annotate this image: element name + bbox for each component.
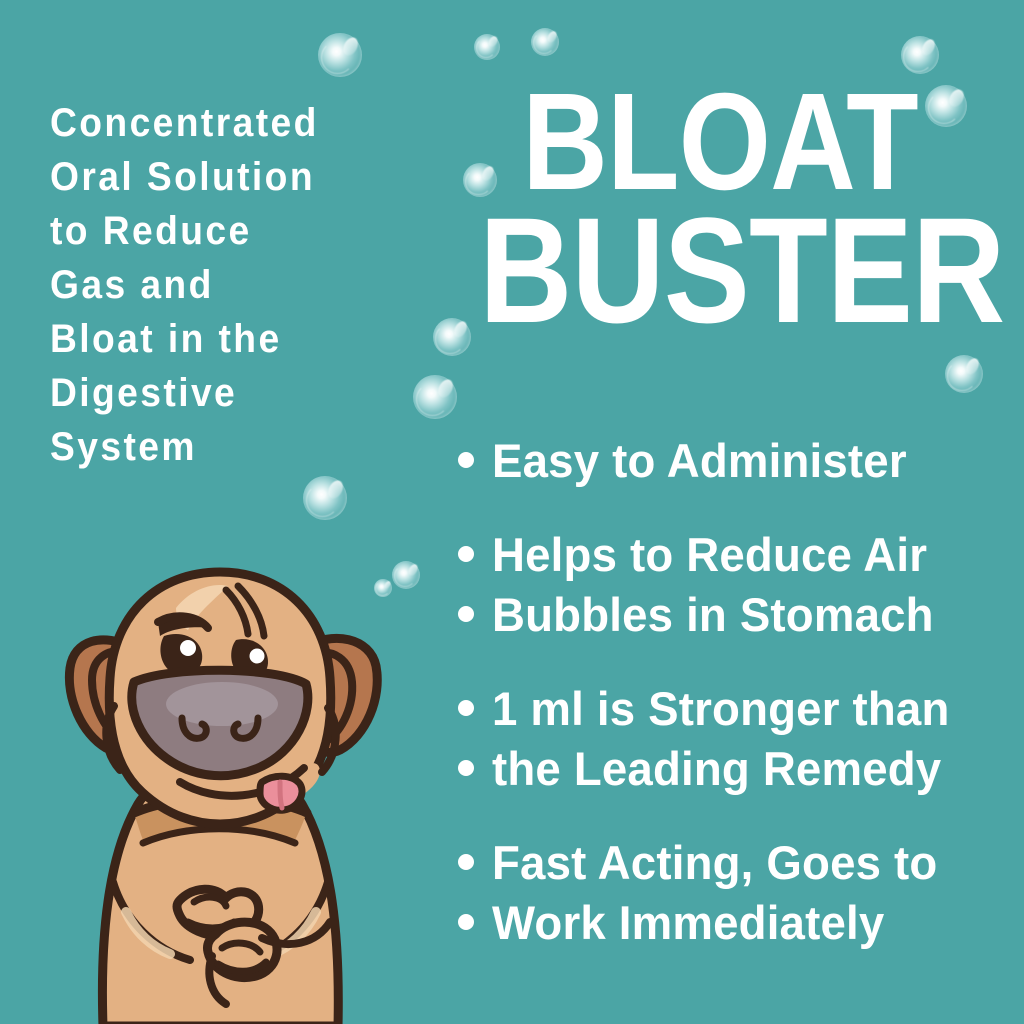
feature-text: Work Immediately bbox=[492, 894, 884, 952]
feature-text: 1 ml is Stronger than bbox=[492, 680, 950, 738]
bubble-decoration bbox=[945, 355, 983, 393]
feature-item: Helps to Reduce AirBubbles in Stomach bbox=[458, 526, 1018, 644]
feature-line: Fast Acting, Goes to bbox=[458, 834, 1018, 892]
bubble-decoration bbox=[303, 476, 347, 520]
description-line: to Reduce bbox=[50, 204, 394, 258]
bullet-dot-icon bbox=[458, 452, 474, 468]
bullet-dot-icon bbox=[458, 700, 474, 716]
feature-line: Helps to Reduce Air bbox=[458, 526, 1018, 584]
bullet-dot-icon bbox=[458, 914, 474, 930]
feature-line: 1 ml is Stronger than bbox=[458, 680, 1018, 738]
feature-text: Helps to Reduce Air bbox=[492, 526, 927, 584]
description-line: Oral Solution bbox=[50, 150, 394, 204]
feature-line: Bubbles in Stomach bbox=[458, 586, 1018, 644]
feature-text: Fast Acting, Goes to bbox=[492, 834, 937, 892]
bullet-dot-icon bbox=[458, 606, 474, 622]
bullet-dot-icon bbox=[458, 760, 474, 776]
feature-item: Easy to Administer bbox=[458, 432, 1018, 490]
sad-bloated-dog-illustration bbox=[30, 556, 410, 1024]
feature-text: Easy to Administer bbox=[492, 432, 907, 490]
description-line: Digestive bbox=[50, 366, 394, 420]
feature-text: Bubbles in Stomach bbox=[492, 586, 934, 644]
feature-item: 1 ml is Stronger thanthe Leading Remedy bbox=[458, 680, 1018, 798]
feature-line: the Leading Remedy bbox=[458, 740, 1018, 798]
product-description: Concentrated Oral Solution to Reduce Gas… bbox=[50, 96, 420, 474]
bubble-decoration bbox=[531, 28, 559, 56]
description-line: Concentrated bbox=[50, 96, 394, 150]
bullet-dot-icon bbox=[458, 854, 474, 870]
feature-text: the Leading Remedy bbox=[492, 740, 941, 798]
bullet-dot-icon bbox=[458, 546, 474, 562]
feature-line: Work Immediately bbox=[458, 894, 1018, 952]
description-line: Gas and bbox=[50, 258, 394, 312]
bubble-decoration bbox=[318, 33, 362, 77]
feature-list: Easy to AdministerHelps to Reduce AirBub… bbox=[458, 432, 1018, 954]
poster-canvas: Concentrated Oral Solution to Reduce Gas… bbox=[0, 0, 1024, 1024]
description-line: System bbox=[50, 420, 394, 474]
bubble-decoration bbox=[474, 34, 500, 60]
description-line: Bloat in the bbox=[50, 312, 394, 366]
feature-item: Fast Acting, Goes toWork Immediately bbox=[458, 834, 1018, 952]
title-line-2: BUSTER bbox=[479, 206, 961, 334]
product-title: BLOAT BUSTER bbox=[440, 78, 1000, 334]
feature-line: Easy to Administer bbox=[458, 432, 1018, 490]
